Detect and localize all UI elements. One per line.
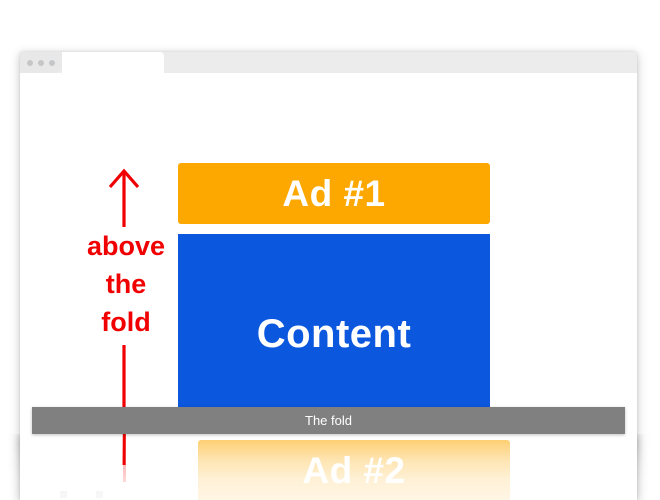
below-the-fold-contents: Ad #2 bbox=[0, 434, 660, 500]
browser-tab-active[interactable] bbox=[62, 52, 164, 73]
the-fold-bar: The fold bbox=[32, 407, 625, 434]
window-controls[interactable] bbox=[20, 52, 62, 73]
annotation-line-3: fold bbox=[68, 303, 184, 341]
browser-window-continuation: Ad #2 bbox=[20, 434, 637, 500]
control-dot-maximize-icon[interactable] bbox=[49, 60, 55, 66]
ad-block-2[interactable]: Ad #2 bbox=[198, 440, 510, 500]
control-dot-minimize-icon[interactable] bbox=[38, 60, 44, 66]
faded-mark-2 bbox=[96, 491, 103, 498]
ad-block-1[interactable]: Ad #1 bbox=[178, 163, 490, 224]
faded-footer-marks bbox=[60, 491, 140, 500]
content-block: Content bbox=[178, 234, 490, 434]
faded-mark-1 bbox=[60, 491, 67, 498]
annotation-line-1: above bbox=[68, 227, 184, 265]
diagram-stage: Ad #1 Content above the fold Ad #2 bbox=[0, 0, 660, 500]
annotation-line-2: the bbox=[68, 265, 184, 303]
control-dot-close-icon[interactable] bbox=[27, 60, 33, 66]
below-the-fold-region: Ad #2 bbox=[0, 434, 660, 500]
annotation-arrow-tail bbox=[123, 434, 126, 482]
browser-titlebar bbox=[20, 52, 637, 73]
above-the-fold-label: above the fold bbox=[68, 227, 184, 341]
